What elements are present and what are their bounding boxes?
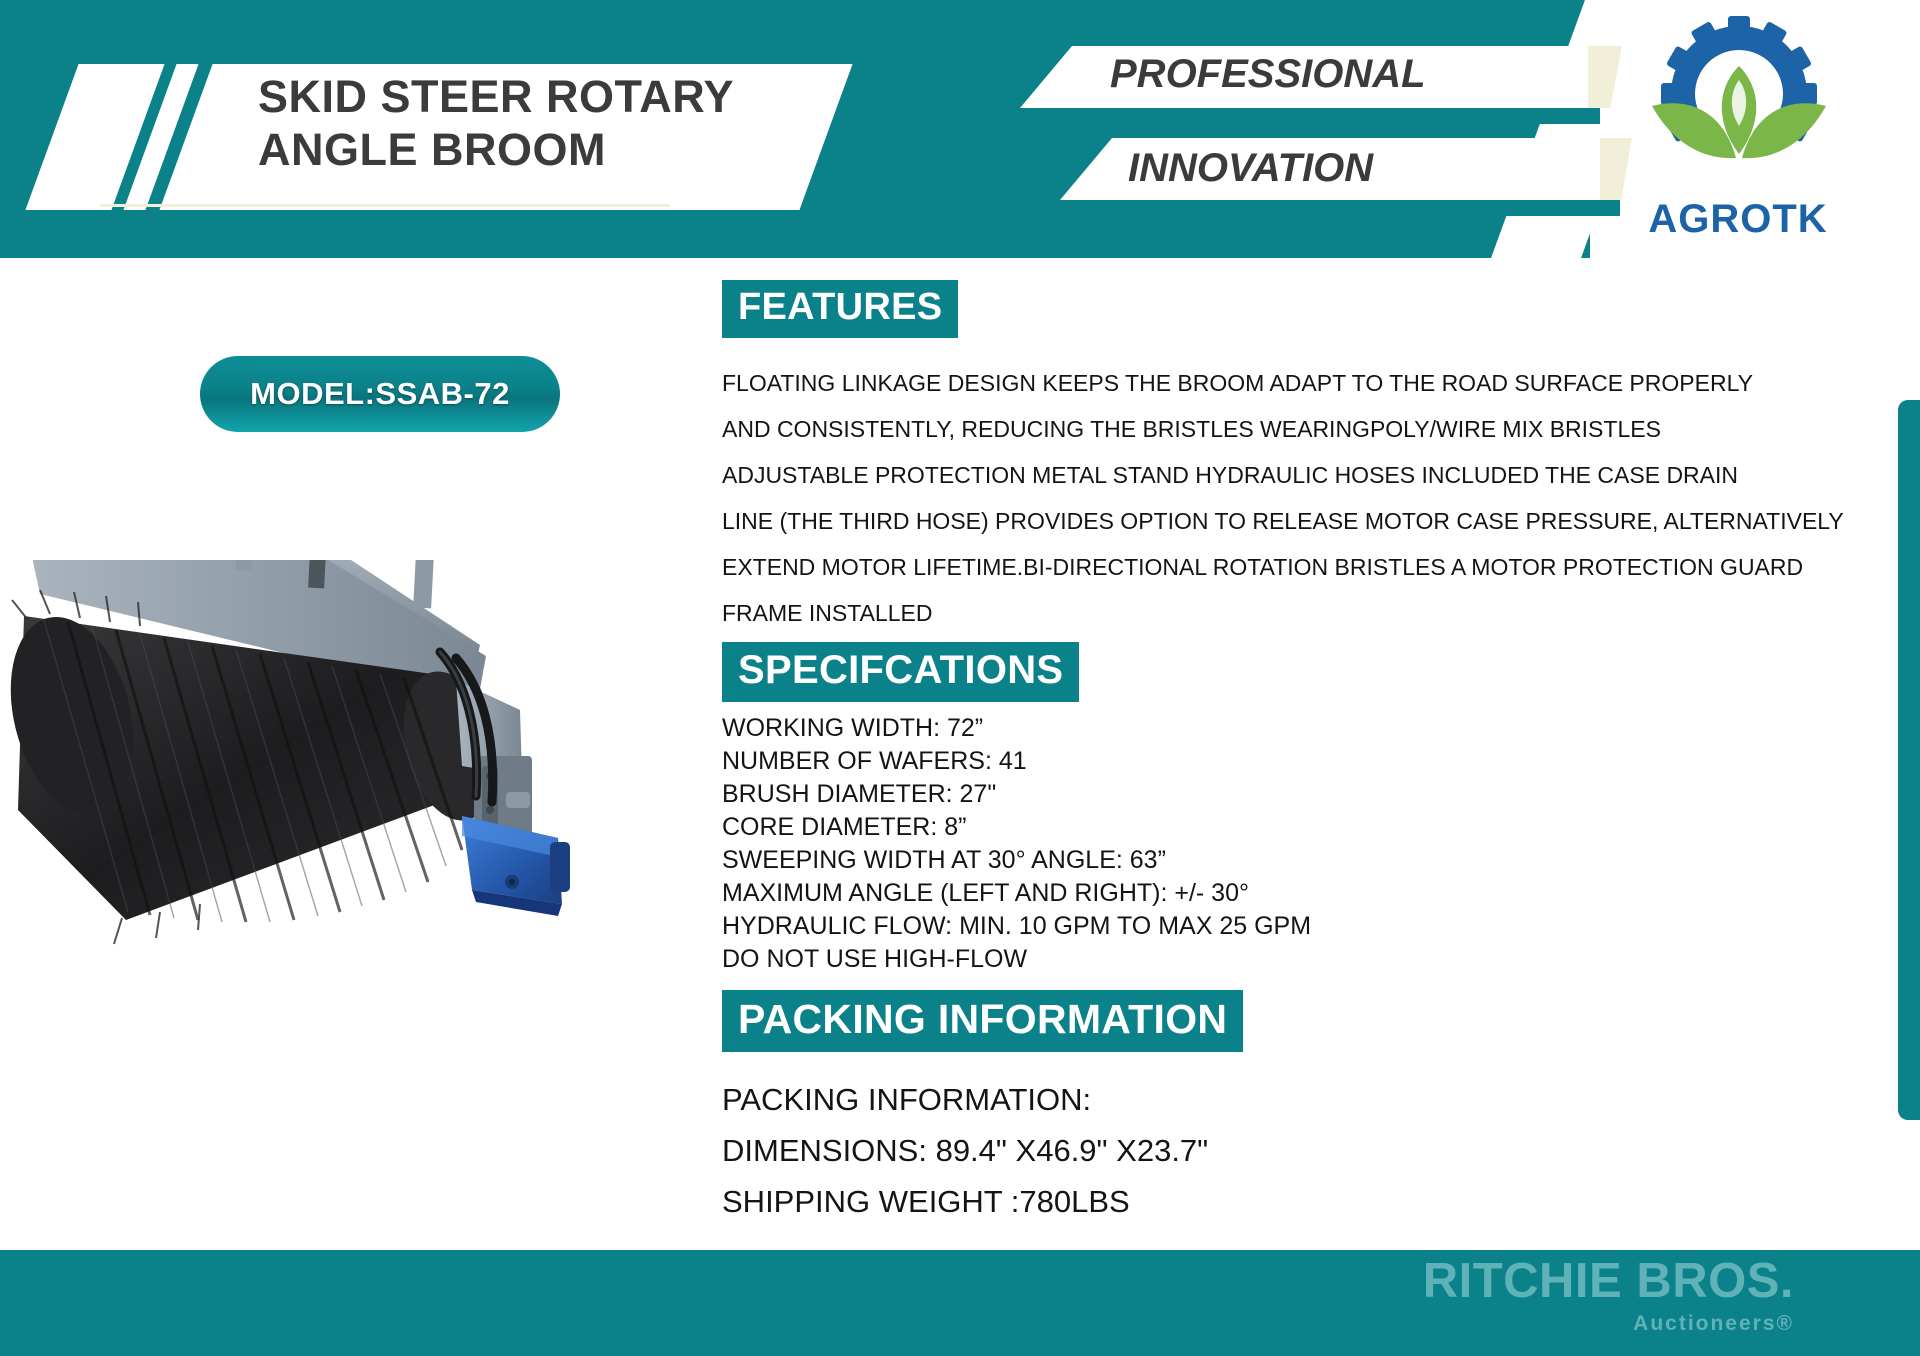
brand-wordmark: AGROTK (1598, 197, 1878, 242)
packing-line: DIMENSIONS: 89.4" X46.9" X23.7" (722, 1125, 1902, 1176)
packing-list: PACKING INFORMATION: DIMENSIONS: 89.4" X… (722, 1074, 1902, 1227)
feature-line: LINE (THE THIRD HOSE) PROVIDES OPTION TO… (722, 498, 1902, 544)
watermark-sub-text: Auctioneers® (1423, 1313, 1794, 1334)
ribbon-innovation-shadow (1060, 200, 1620, 216)
product-image (10, 560, 670, 1000)
ribbon-professional-label: PROFESSIONAL (1110, 52, 1426, 97)
spec-line: DO NOT USE HIGH-FLOW (722, 943, 1902, 976)
page-footer: RITCHIE BROS. Auctioneers® (0, 1250, 1920, 1356)
feature-line: ADJUSTABLE PROTECTION METAL STAND HYDRAU… (722, 452, 1902, 498)
gear-leaf-logo-icon (1624, 8, 1854, 223)
page-title: SKID STEER ROTARY ANGLE BROOM (258, 70, 878, 204)
page-header: SKID STEER ROTARY ANGLE BROOM PROFESSION… (0, 0, 1920, 258)
specifications-section-heading: SPECIFCATIONS (722, 642, 1079, 702)
packing-line: SHIPPING WEIGHT :780LBS (722, 1176, 1902, 1227)
feature-line: FRAME INSTALLED (722, 590, 1902, 636)
packing-section-heading: PACKING INFORMATION (722, 990, 1243, 1052)
spec-line: HYDRAULIC FLOW: MIN. 10 GPM TO MAX 25 GP… (722, 910, 1902, 943)
right-edge-tab-decor (1898, 400, 1920, 1120)
header-underline-decor (99, 204, 670, 207)
spec-line: SWEEPING WIDTH AT 30° ANGLE: 63” (722, 844, 1902, 877)
spec-line: NUMBER OF WAFERS: 41 (722, 745, 1902, 778)
feature-line: AND CONSISTENTLY, REDUCING THE BRISTLES … (722, 406, 1902, 452)
page-title-line-2: ANGLE BROOM (258, 123, 878, 176)
packing-line: PACKING INFORMATION: (722, 1074, 1902, 1125)
features-section-heading: FEATURES (722, 280, 958, 338)
model-badge: MODEL:SSAB-72 (200, 356, 560, 432)
spec-line: MAXIMUM ANGLE (LEFT AND RIGHT): +/- 30° (722, 877, 1902, 910)
watermark-main-text: RITCHIE BROS. (1423, 1257, 1794, 1306)
feature-line: EXTEND MOTOR LIFETIME.BI-DIRECTIONAL ROT… (722, 544, 1902, 590)
page-title-line-1: SKID STEER ROTARY (258, 70, 878, 123)
ribbon-innovation-label: INNOVATION (1128, 146, 1373, 191)
spec-line: WORKING WIDTH: 72” (722, 712, 1902, 745)
specifications-list: WORKING WIDTH: 72” NUMBER OF WAFERS: 41 … (722, 712, 1902, 976)
content-column: FEATURES FLOATING LINKAGE DESIGN KEEPS T… (722, 280, 1902, 1227)
feature-line: FLOATING LINKAGE DESIGN KEEPS THE BROOM … (722, 360, 1902, 406)
ribbon-professional-shadow (1020, 108, 1600, 124)
features-list: FLOATING LINKAGE DESIGN KEEPS THE BROOM … (722, 360, 1902, 636)
ritchie-bros-watermark: RITCHIE BROS. Auctioneers® (1423, 1257, 1794, 1334)
spec-line: CORE DIAMETER: 8” (722, 811, 1902, 844)
spec-line: BRUSH DIAMETER: 27" (722, 778, 1902, 811)
